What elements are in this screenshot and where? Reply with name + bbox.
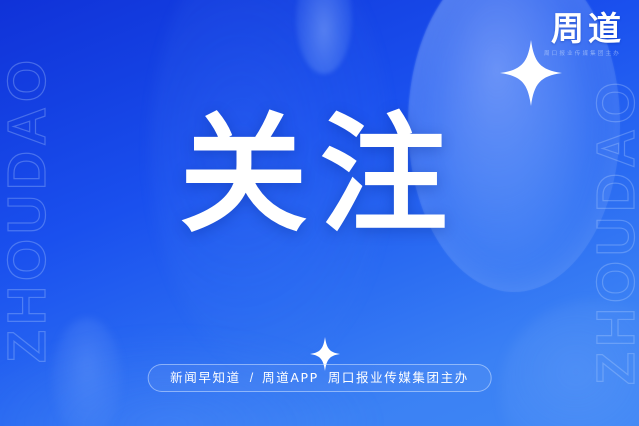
- brand-char-dao: 道: [588, 12, 621, 45]
- brand-subtitle: 周口报业传媒集团主办: [544, 49, 621, 57]
- footer-banner-segment-3: 周口报业传媒集团主办: [328, 372, 469, 385]
- brand-logo: 周 道 周口报业传媒集团主办: [544, 12, 621, 57]
- page-title: 关注: [0, 112, 639, 240]
- footer-banner-segment-2: 周道APP: [262, 372, 319, 385]
- poster-canvas: ZHOUDAO ZHOUDAO 周 道 周口报业传媒集团主办 关注 新闻早知道 …: [0, 0, 639, 426]
- footer-banner-segment-1: 新闻早知道: [170, 372, 241, 385]
- background-oval-bottom-left: [52, 318, 122, 426]
- footer-banner-separator: /: [250, 372, 253, 385]
- background-oval-small-top: [296, 0, 352, 74]
- brand-logo-mark: 周 道: [544, 12, 621, 45]
- background-oval-bottom-right: [500, 300, 639, 426]
- brand-char-zhou: 周: [551, 12, 584, 45]
- footer-banner: 新闻早知道 / 周道APP 周口报业传媒集团主办: [147, 364, 492, 392]
